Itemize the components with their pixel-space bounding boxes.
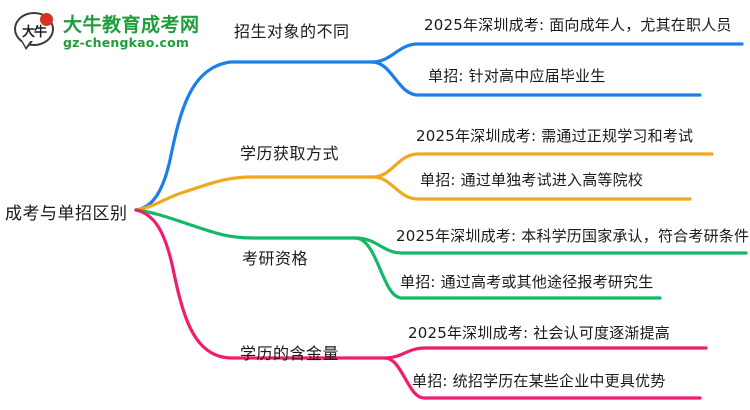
logo-url: gz-chengkao.com xyxy=(63,36,200,50)
leaf-node-3-1-label[interactable]: 2025年深圳成考: 本科学历国家承认，符合考研条件 xyxy=(396,225,749,246)
branch-node-1-label[interactable]: 招生对象的不同 xyxy=(234,18,350,42)
leaf-node-4-2-label[interactable]: 单招: 统招学历在某些企业中更具优势 xyxy=(412,370,665,391)
branch-4-trunk xyxy=(136,210,385,358)
leaf-node-4-1-label[interactable]: 2025年深圳成考: 社会认可度逐渐提高 xyxy=(408,322,670,343)
logo-text-block: 大牛教育成考网 gz-chengkao.com xyxy=(63,15,200,49)
logo-mark-text: 大牛 xyxy=(14,15,54,45)
branch-node-2-label[interactable]: 学历获取方式 xyxy=(240,140,339,164)
root-node-label[interactable]: 成考与单招区别 xyxy=(5,199,128,224)
leaf-node-2-2-label[interactable]: 单招: 通过单独考试进入高等院校 xyxy=(420,169,643,190)
branch-4-child-1-line xyxy=(385,348,706,358)
logo-title: 大牛教育成考网 xyxy=(63,15,200,36)
speech-bubble-icon: 大牛 xyxy=(14,12,56,52)
branch-node-4-label[interactable]: 学历的含金量 xyxy=(240,340,339,364)
leaf-node-1-2-label[interactable]: 单招: 针对高中应届毕业生 xyxy=(428,65,605,86)
leaf-node-3-2-label[interactable]: 单招: 通过高考或其他途径报考研究生 xyxy=(400,271,653,292)
branch-3-trunk xyxy=(136,210,355,238)
branch-node-3-label[interactable]: 考研资格 xyxy=(242,245,308,269)
mindmap-canvas: 大牛 大牛教育成考网 gz-chengkao.com 成考与单招区别 招生对象的… xyxy=(0,0,750,410)
branch-2-trunk xyxy=(136,177,373,210)
site-logo[interactable]: 大牛 大牛教育成考网 gz-chengkao.com xyxy=(14,12,200,52)
leaf-node-1-1-label[interactable]: 2025年深圳成考: 面向成年人，尤其在职人员 xyxy=(424,14,732,35)
branch-1-child-1-line xyxy=(372,44,742,62)
leaf-node-2-1-label[interactable]: 2025年深圳成考: 需通过正规学习和考试 xyxy=(416,125,693,146)
branch-1-trunk xyxy=(136,62,372,210)
